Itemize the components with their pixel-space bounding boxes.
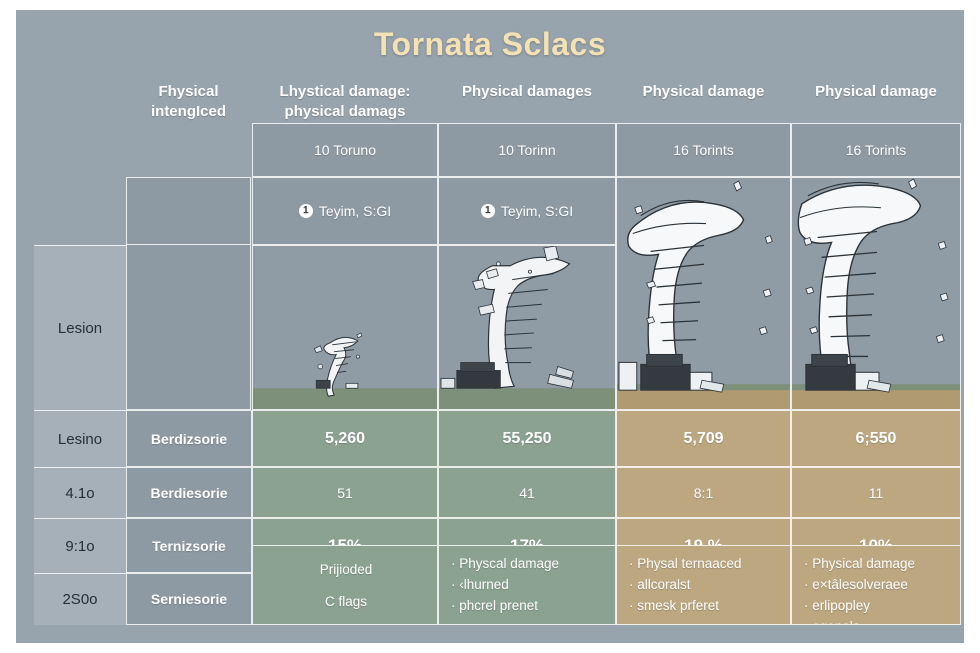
column-note-text-1: Teyim, S:GI xyxy=(501,203,573,219)
info-icon: 1 xyxy=(481,204,495,218)
poster-canvas: Tornata Sclacs Fhysical intengIced Lhyst… xyxy=(16,10,964,643)
bullet-item: · ‹lhurned xyxy=(451,575,605,596)
data-cell-bullets-2: · Physal ternaaced · allcoralst · smesk … xyxy=(616,545,791,625)
bullet-item: · Physal ternaaced xyxy=(629,554,780,575)
bullet-item: · Physcal damage xyxy=(451,554,605,575)
row-label-3: 9:1o xyxy=(34,518,126,573)
row-label-2: 4.1o xyxy=(34,467,126,518)
tornado-illustration-0 xyxy=(252,245,438,410)
column-header-0: Lhystical damage: physical damags xyxy=(252,82,438,123)
column-count-0: 10 Toruno xyxy=(252,123,438,177)
column-count-1: 10 Torinn xyxy=(438,123,616,177)
row-category-1: Berdizsorie xyxy=(126,410,252,467)
data-cell-secondary-2: 8:1 xyxy=(616,467,791,518)
data-cell-count-0: 5,260 xyxy=(252,410,438,467)
illustration-placeholder-cell-lower xyxy=(126,245,251,410)
tornado-illustration-2 xyxy=(616,177,791,410)
row-label-0: Lesion xyxy=(34,245,126,410)
row-label-4: 2S0o xyxy=(34,573,126,625)
data-cell-secondary-1: 41 xyxy=(438,467,616,518)
tornado-scene-largest xyxy=(792,178,960,409)
tornado-scene-small xyxy=(253,246,437,409)
bullet-item: · erlipopley xyxy=(804,596,950,617)
data-cell-secondary-0: 51 xyxy=(252,467,438,518)
data-cell-count-1: 55,250 xyxy=(438,410,616,467)
data-cell-count-3: 6;550 xyxy=(791,410,961,467)
info-badge-1: 1 Teyim, S:GI xyxy=(481,203,573,219)
tornado-scene-medium xyxy=(439,246,615,409)
bullet-item: · allcoralst xyxy=(629,575,780,596)
column-note-0: 1 Teyim, S:GI xyxy=(252,177,438,245)
row-category-4: Serniesorie xyxy=(126,573,252,625)
bullet-item: · egenels xyxy=(804,617,950,625)
column-header-3: Physical damage xyxy=(791,82,961,102)
info-badge-0: 1 Teyim, S:GI xyxy=(299,203,391,219)
row-label-column-header: Fhysical intengIced xyxy=(126,82,251,123)
row-category-2: Berdiesorie xyxy=(126,467,252,518)
column-header-2: Physical damage xyxy=(616,82,791,102)
tornado-illustration-3 xyxy=(791,177,961,410)
data-cell-bullets-3: · Physical damage · e×tâlesolveraеe · er… xyxy=(791,545,961,625)
data-cell-bullets-1: · Physcal damage · ‹lhurned · phcrel pre… xyxy=(438,545,616,625)
column-note-1: 1 Teyim, S:GI xyxy=(438,177,616,245)
tornado-scene-large xyxy=(617,178,790,409)
row-category-3: Ternizsorie xyxy=(126,518,252,573)
column-note-text-0: Teyim, S:GI xyxy=(319,203,391,219)
row-label-1: Lesino xyxy=(34,410,126,467)
data-cell-secondary-3: 11 xyxy=(791,467,961,518)
page-title: Tornata Sclacs xyxy=(16,26,964,63)
tornado-illustration-1 xyxy=(438,245,616,410)
column-count-2: 16 Torints xyxy=(616,123,791,177)
column-header-1: Physical damages xyxy=(438,82,616,102)
bullet-item: · phcrel prenet xyxy=(451,596,605,617)
info-icon: 1 xyxy=(299,204,313,218)
bullet-item: · Physical damage xyxy=(804,554,950,575)
bullet-item: · e×tâlesolveraеe xyxy=(804,575,950,596)
data-cell-bullets-0: Prijioded C flags xyxy=(252,545,438,625)
data-cell-count-2: 5,709 xyxy=(616,410,791,467)
column-count-3: 16 Torints xyxy=(791,123,961,177)
illustration-placeholder-cell xyxy=(126,177,251,245)
bullet-item: Prijioded xyxy=(320,560,373,581)
bullet-item: C flags xyxy=(325,592,367,613)
bullet-item: · smesk prferet xyxy=(629,596,780,617)
